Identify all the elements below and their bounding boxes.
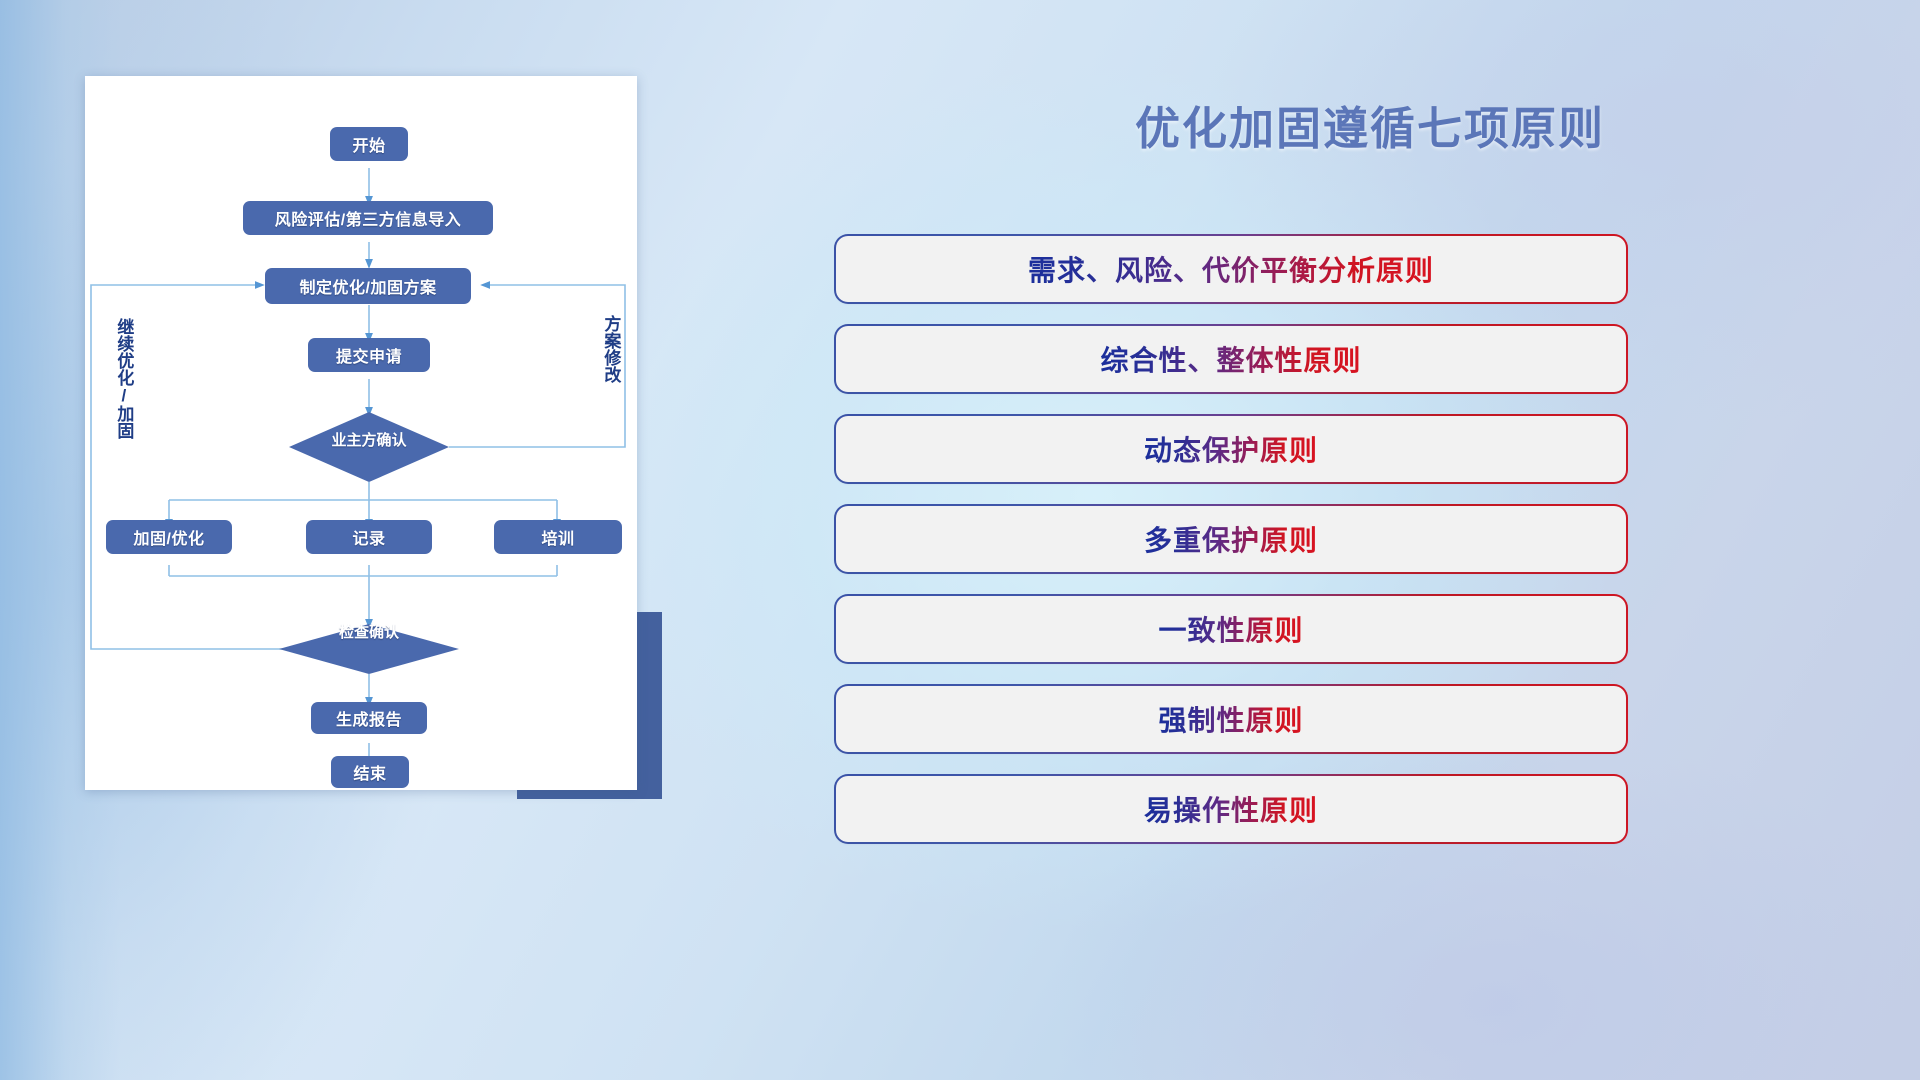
node-end-label: 结束 xyxy=(353,760,386,784)
principle-label: 强制性原则 xyxy=(1158,699,1303,739)
principle-item-2[interactable]: 综合性、整体性原则 xyxy=(836,326,1626,392)
principle-label: 综合性、整体性原则 xyxy=(1100,339,1361,379)
node-owner-confirm-label: 业主方确认 xyxy=(289,426,449,452)
principle-label: 需求、风险、代价平衡分析原则 xyxy=(1028,249,1434,289)
principle-item-4[interactable]: 多重保护原则 xyxy=(836,506,1626,572)
node-training-label: 培训 xyxy=(541,525,574,549)
edge-label-plan-revision: 方案修改 xyxy=(602,315,619,411)
node-generate-report[interactable]: 生成报告 xyxy=(311,702,427,734)
node-submit-application-label: 提交申请 xyxy=(336,343,402,367)
page-title: 优化加固遵循七项原则 xyxy=(820,92,1920,157)
principle-label: 易操作性原则 xyxy=(1144,789,1318,829)
node-make-plan-label: 制定优化/加固方案 xyxy=(300,274,437,298)
principle-item-5[interactable]: 一致性原则 xyxy=(836,596,1626,662)
node-reinforce-optimize-label: 加固/优化 xyxy=(134,525,205,549)
principle-item-3[interactable]: 动态保护原则 xyxy=(836,416,1626,482)
principle-label: 动态保护原则 xyxy=(1144,429,1318,469)
flowchart-panel: 开始 风险评估/第三方信息导入 制定优化/加固方案 提交申请 业主方确认 加固/… xyxy=(0,0,820,1080)
principles-panel: 优化加固遵循七项原则 需求、风险、代价平衡分析原则 综合性、整体性原则 动态保护… xyxy=(820,0,1920,1080)
node-check-confirm-label: 检查确认 xyxy=(289,618,449,644)
principle-label: 多重保护原则 xyxy=(1144,519,1318,559)
principle-item-7[interactable]: 易操作性原则 xyxy=(836,776,1626,842)
edge-label-continue-optimize: 继续优化/加固 xyxy=(115,318,132,448)
principles-list: 需求、风险、代价平衡分析原则 综合性、整体性原则 动态保护原则 多重保护原则 一… xyxy=(836,236,1636,866)
node-risk-assessment-label: 风险评估/第三方信息导入 xyxy=(275,206,461,230)
node-start-label: 开始 xyxy=(352,132,385,156)
node-risk-assessment[interactable]: 风险评估/第三方信息导入 xyxy=(243,201,493,235)
node-end[interactable]: 结束 xyxy=(331,756,409,788)
principle-item-6[interactable]: 强制性原则 xyxy=(836,686,1626,752)
node-reinforce-optimize[interactable]: 加固/优化 xyxy=(106,520,232,554)
node-generate-report-label: 生成报告 xyxy=(336,706,402,730)
node-record-label: 记录 xyxy=(352,525,385,549)
principle-item-1[interactable]: 需求、风险、代价平衡分析原则 xyxy=(836,236,1626,302)
node-training[interactable]: 培训 xyxy=(494,520,622,554)
node-submit-application[interactable]: 提交申请 xyxy=(308,338,430,372)
principle-label: 一致性原则 xyxy=(1158,609,1303,649)
node-start[interactable]: 开始 xyxy=(330,127,408,161)
node-record[interactable]: 记录 xyxy=(306,520,432,554)
node-make-plan[interactable]: 制定优化/加固方案 xyxy=(265,268,471,304)
